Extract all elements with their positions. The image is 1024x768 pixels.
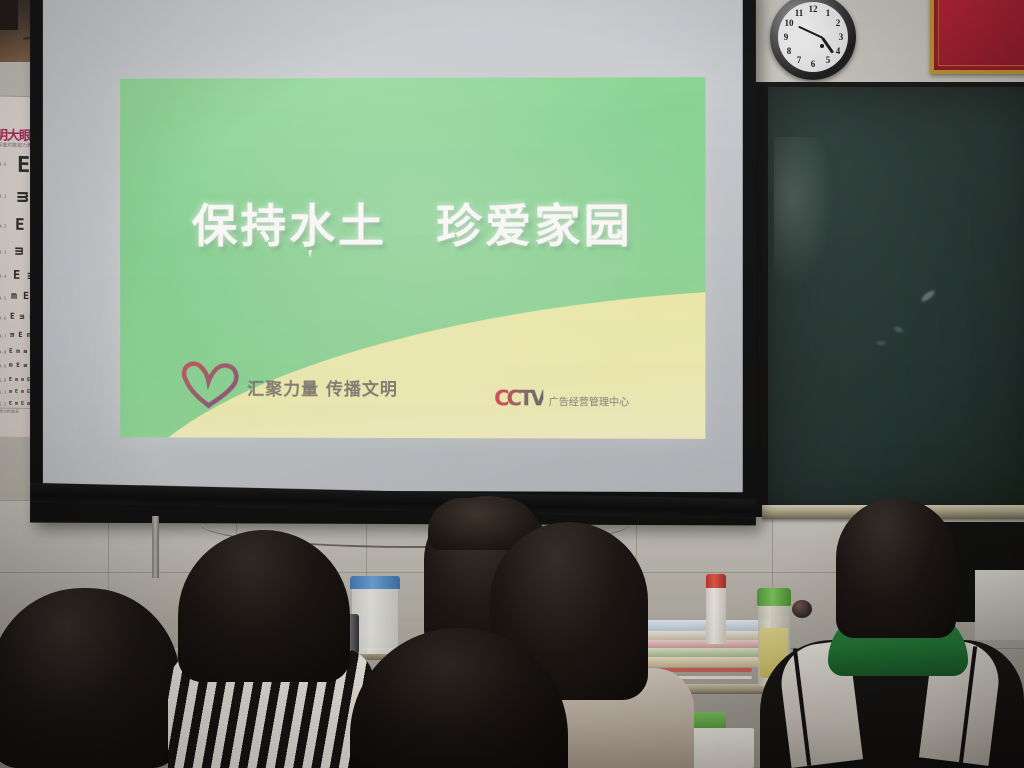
cctv-branding: CCTV 广告经营管理中心	[494, 386, 629, 410]
eye-row-glyphs: ᴟ E m	[10, 332, 31, 339]
eye-row-glyphs: ᴟ E m E	[9, 390, 30, 395]
red-award-plaque	[930, 0, 1024, 74]
eye-row-num: 4.1	[0, 194, 6, 198]
screen-surface: 保持水土 珍爱家园 汇聚力量 传播文明	[43, 0, 743, 492]
clock-numeral: 11	[793, 7, 805, 19]
clock-numeral: 2	[832, 17, 844, 29]
eye-row-num: 4.5	[0, 296, 6, 300]
green-chalkboard	[754, 82, 1024, 517]
book	[645, 657, 770, 667]
heart-outline-icon	[178, 358, 244, 410]
eye-row-num: 5.1	[0, 390, 6, 394]
background-object-shadow	[0, 0, 18, 30]
clock-face: 12 1 2 3 4 5 6 7 8 9 10 11	[778, 2, 848, 72]
monitor-edge	[975, 570, 1024, 640]
eye-row-num: 4.7	[0, 334, 6, 338]
chalk-smudge	[876, 341, 886, 345]
plaque-face	[938, 0, 1024, 66]
eye-row-glyphs: E	[15, 217, 25, 233]
eye-row-glyphs: ᴟ	[17, 187, 28, 206]
eye-row-num: 5.0	[0, 378, 6, 382]
student-green-hood	[836, 498, 956, 638]
blackboard-glare	[774, 137, 834, 287]
wall-clock: 12 1 2 3 4 5 6 7 8 9 10 11	[770, 0, 856, 80]
eye-row-num: 5.2	[0, 402, 6, 406]
slide-title: 保持水土 珍爱家园	[120, 190, 705, 256]
book	[645, 648, 770, 657]
eye-row-glyphs: E ᴟ m E	[9, 378, 30, 383]
screen-support-pole	[152, 516, 159, 578]
cctv-logo: CCTV	[494, 386, 544, 410]
projected-slide: 保持水土 珍爱家园 汇聚力量 传播文明	[120, 77, 705, 439]
eye-row-num: 4.9	[0, 364, 6, 368]
eye-row-num: 4.8	[0, 350, 6, 354]
eye-row-num: 4.2	[0, 224, 6, 228]
cctv-subtitle: 广告经营管理中心	[549, 393, 629, 410]
clock-numeral: 8	[783, 45, 795, 57]
chalk-smudge	[893, 326, 903, 334]
eye-row-num: 4.0	[0, 162, 6, 166]
eye-row-glyphs: E m E ᴟ	[9, 402, 30, 407]
clock-numeral: 3	[835, 31, 847, 43]
clock-numeral: 5	[822, 54, 834, 66]
clock-numeral: 9	[780, 31, 792, 43]
chalk-smudge	[920, 289, 936, 304]
dark-knob-object	[792, 600, 812, 618]
eye-row-num: 4.6	[0, 316, 6, 320]
pitcher-lid	[350, 576, 400, 589]
eye-row-num: 4.4	[0, 274, 6, 278]
eye-row-glyphs: E	[17, 155, 30, 177]
clock-numeral: 6	[807, 58, 819, 70]
slide-slogan: 汇聚力量 传播文明	[247, 375, 398, 400]
clock-numeral: 12	[807, 3, 819, 15]
eye-row-num: 4.3	[0, 250, 6, 254]
tissue-box	[684, 728, 754, 768]
thermos-cap	[706, 574, 726, 588]
clock-center-pin	[820, 44, 824, 48]
student-back-left	[0, 588, 180, 768]
bottle-green-cap	[757, 588, 791, 606]
projection-screen: 保持水土 珍爱家园 汇聚力量 传播文明	[30, 0, 756, 525]
clock-minute-hand	[798, 26, 823, 39]
classroom-photo: 明大眼镜 标准对数视力表 4.0 E 4.1 ᴟ 4.2 E 4.3 ᴟ E 4…	[0, 0, 1024, 768]
